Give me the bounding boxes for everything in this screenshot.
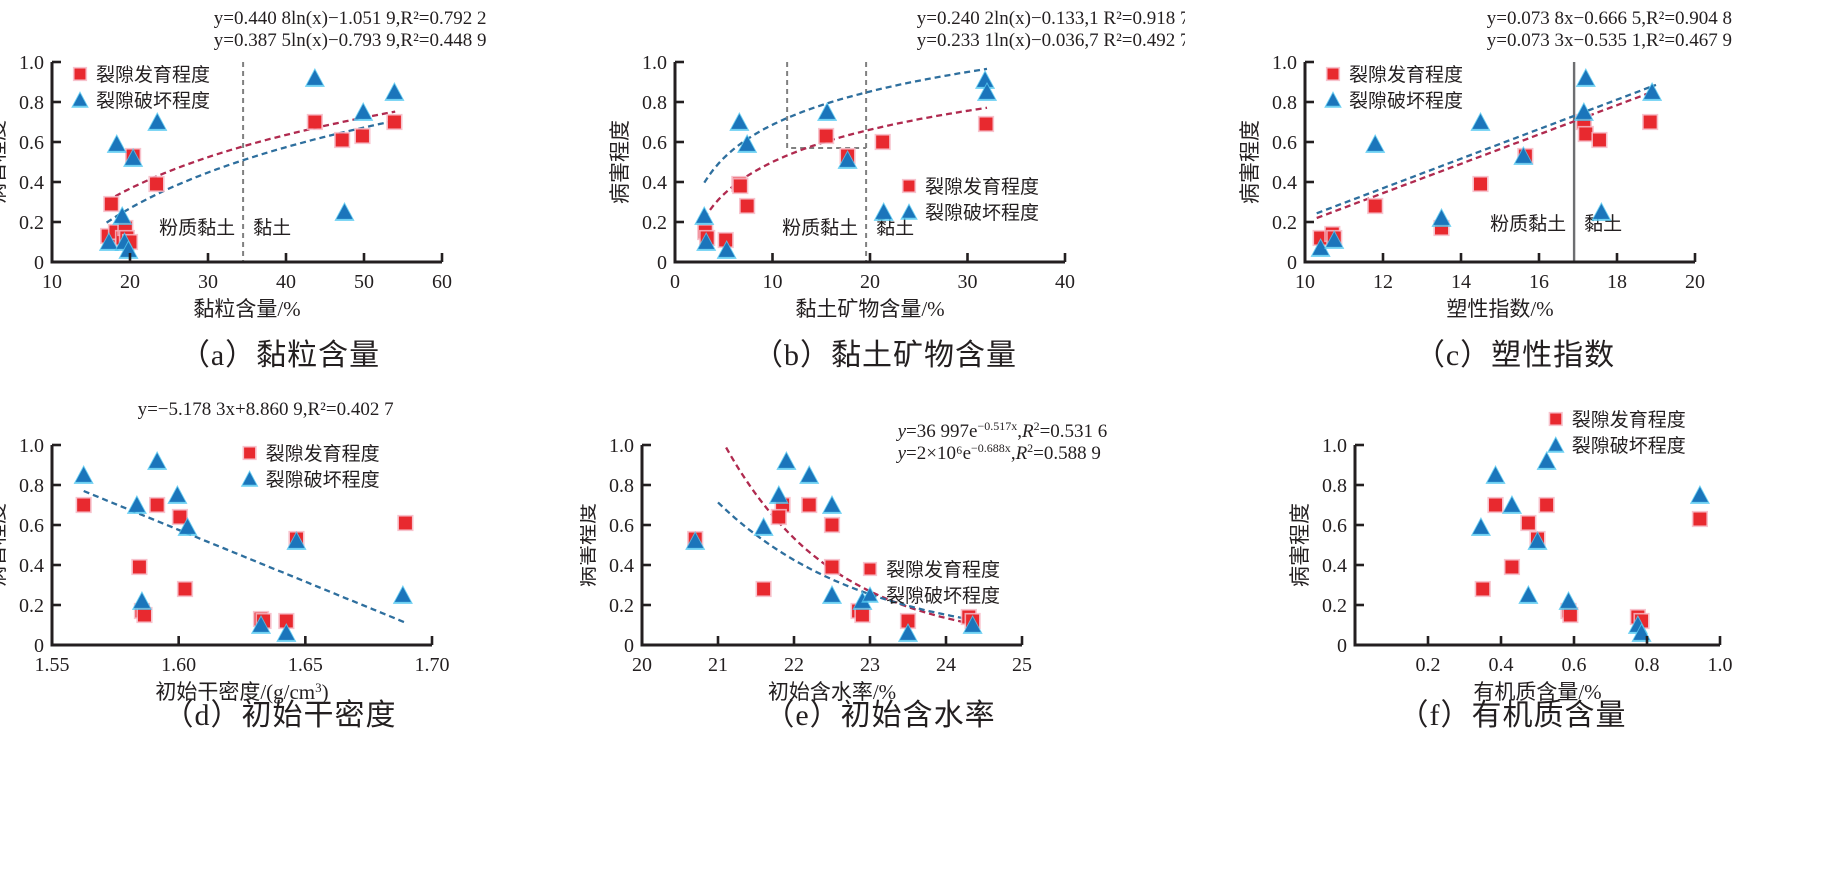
y-tick-label: 0.8	[19, 92, 44, 114]
y-tick-label: 0.2	[19, 212, 44, 234]
data-point-triangle	[731, 114, 747, 129]
data-point-square	[826, 519, 839, 532]
x-tick-label: 30	[198, 271, 218, 293]
data-point-square	[1522, 517, 1535, 530]
data-point-triangle	[771, 487, 787, 502]
legend-label-2: 裂隙破坏程度	[925, 202, 1039, 224]
data-point-square	[826, 561, 839, 574]
x-tick-label: 20	[1685, 271, 1705, 293]
x-tick-label: 10	[763, 271, 783, 293]
data-point-square	[179, 583, 192, 596]
x-tick-label: 14	[1451, 271, 1471, 293]
zone-label-clay: 黏土	[253, 217, 291, 239]
data-point-square	[308, 116, 321, 129]
equation-block-e: y=36 997e−0.517x,R2=0.531 6y=2×10⁶e−0.68…	[896, 419, 1108, 464]
legend-swatch-triangle	[243, 472, 257, 485]
panel-b: y=0.240 2ln(x)−0.133,1 R²=0.918 7y=0.233…	[585, 0, 1185, 330]
y-tick-label: 0.2	[1322, 595, 1347, 617]
data-point-triangle	[778, 453, 794, 468]
legend-swatch-square	[904, 181, 915, 192]
equation-text: y=−5.178 3x+8.860 9,R²=0.402 7	[138, 400, 394, 420]
x-tick-label: 0.8	[1635, 654, 1660, 676]
equation-text: y=0.440 8ln(x)−1.051 9,R²=0.792 2	[214, 8, 487, 29]
x-tick-label: 0	[670, 271, 680, 293]
data-point-square	[741, 200, 754, 213]
y-tick-label: 1.0	[19, 435, 44, 457]
chart-a: y=0.440 8ln(x)−1.051 9,R²=0.792 2y=0.387…	[0, 0, 560, 330]
x-tick-label: 23	[860, 654, 880, 676]
equation-text: y=0.233 1ln(x)−0.036,7 R²=0.492 7	[917, 30, 1185, 51]
y-tick-label: 0.8	[19, 475, 44, 497]
data-point-square	[1579, 128, 1592, 141]
y-tick-label: 0.4	[19, 172, 44, 194]
y-tick-label: 0.6	[642, 132, 667, 154]
y-tick-label: 0.8	[1272, 92, 1297, 114]
equation-block-a: y=0.440 8ln(x)−1.051 9,R²=0.792 2y=0.387…	[214, 8, 487, 51]
data-point-square	[150, 178, 163, 191]
legend-label-1: 裂隙发育程度	[925, 176, 1039, 198]
x-tick-label: 22	[784, 654, 804, 676]
data-point-triangle	[149, 114, 165, 129]
x-tick-label: 20	[632, 654, 652, 676]
panel-caption-d: （d）初始干密度	[0, 690, 560, 734]
data-point-triangle	[355, 104, 371, 119]
data-point-triangle	[824, 497, 840, 512]
y-tick-label: 0	[1337, 635, 1347, 657]
legend-label-1: 裂隙发育程度	[96, 64, 210, 86]
x-tick-label: 40	[1055, 271, 1075, 293]
y-tick-label: 1.0	[19, 52, 44, 74]
data-point-triangle	[1472, 114, 1488, 129]
data-point-square	[336, 134, 349, 147]
data-point-square	[1593, 134, 1606, 147]
data-point-square	[772, 511, 785, 524]
y-tick-label: 1.0	[609, 435, 634, 457]
y-tick-label: 0.6	[1322, 515, 1347, 537]
data-point-triangle	[824, 587, 840, 602]
y-tick-label: 0.8	[642, 92, 667, 114]
data-point-triangle	[1504, 497, 1520, 512]
zone-label-silty-clay: 粉质黏土	[1490, 213, 1566, 235]
y-tick-label: 0.4	[642, 172, 667, 194]
data-point-triangle	[1487, 467, 1503, 482]
legend-label-1: 裂隙发育程度	[266, 443, 380, 465]
y-axis-title: 病害程度	[580, 503, 599, 587]
x-tick-label: 30	[958, 271, 978, 293]
data-point-triangle	[1433, 210, 1449, 225]
y-tick-label: 0.6	[1272, 132, 1297, 154]
y-tick-label: 0	[657, 252, 667, 274]
data-point-triangle	[1578, 70, 1594, 85]
equation-text: y=0.240 2ln(x)−0.133,1 R²=0.918 7	[917, 8, 1185, 29]
x-tick-label: 0.6	[1562, 654, 1587, 676]
panel-caption-e: （e）初始含水率	[580, 690, 1180, 734]
x-tick-label: 12	[1373, 271, 1393, 293]
y-axis-title: 病害程度	[1238, 120, 1262, 204]
legend-swatch-triangle	[73, 93, 87, 106]
equation-block-b: y=0.240 2ln(x)−0.133,1 R²=0.918 7y=0.233…	[917, 8, 1185, 51]
data-point-triangle	[1560, 593, 1576, 608]
y-tick-label: 0.6	[19, 132, 44, 154]
chart-e: y=36 997e−0.517x,R2=0.531 6y=2×10⁶e−0.68…	[580, 400, 1180, 730]
x-tick-label: 20	[120, 271, 140, 293]
zone-label-silty-clay: 粉质黏土	[159, 217, 235, 239]
data-point-square	[1476, 583, 1489, 596]
equation-text: y=0.387 5ln(x)−0.793 9,R²=0.448 9	[214, 30, 487, 51]
data-point-square	[399, 517, 412, 530]
data-point-square	[820, 130, 833, 143]
data-point-triangle	[696, 208, 712, 223]
y-tick-label: 0.8	[1322, 475, 1347, 497]
chart-c: y=0.073 8x−0.666 5,R²=0.904 8y=0.073 3x−…	[1215, 0, 1815, 330]
data-point-square	[1489, 499, 1502, 512]
x-axis-title: 塑性指数/%	[1446, 297, 1553, 321]
series-1-points	[1475, 497, 1708, 629]
x-tick-label: 50	[354, 271, 374, 293]
x-tick-label: 21	[708, 654, 728, 676]
data-point-triangle	[169, 487, 185, 502]
x-tick-label: 25	[1012, 654, 1032, 676]
legend-d: 裂隙发育程度裂隙破坏程度	[241, 443, 380, 491]
y-tick-label: 0.4	[19, 555, 44, 577]
x-axis-title: 黏粒含量/%	[193, 297, 300, 321]
y-axis-title: 病害程度	[1288, 503, 1312, 587]
legend-swatch-square	[1328, 69, 1339, 80]
trend-series2	[107, 121, 396, 223]
legend-swatch-triangle	[902, 205, 916, 218]
chart-f: 00.20.40.60.81.00.20.40.60.81.0有机质含量/%病害…	[1200, 400, 1825, 730]
data-point-triangle	[76, 467, 92, 482]
legend-label-1: 裂隙发育程度	[1572, 409, 1686, 431]
data-point-triangle	[336, 204, 352, 219]
y-tick-label: 0.6	[19, 515, 44, 537]
y-tick-label: 1.0	[1272, 52, 1297, 74]
x-tick-label: 60	[432, 271, 452, 293]
y-tick-label: 0.2	[19, 595, 44, 617]
data-point-triangle	[1576, 104, 1592, 119]
data-point-square	[1540, 499, 1553, 512]
data-point-square	[980, 118, 993, 131]
data-point-triangle	[1539, 453, 1555, 468]
data-point-square	[1564, 609, 1577, 622]
data-point-triangle	[307, 70, 323, 85]
data-point-square	[1693, 513, 1706, 526]
x-tick-label: 1.0	[1708, 654, 1733, 676]
legend-b: 裂隙发育程度裂隙破坏程度	[900, 176, 1039, 224]
data-point-square	[105, 198, 118, 211]
data-point-triangle	[1473, 519, 1489, 534]
data-point-triangle	[1367, 136, 1383, 151]
data-point-triangle	[876, 204, 892, 219]
data-point-triangle	[1520, 587, 1536, 602]
legend-label-2: 裂隙破坏程度	[96, 90, 210, 112]
equation-block-d: y=−5.178 3x+8.860 9,R²=0.402 7	[138, 400, 394, 420]
data-point-triangle	[977, 72, 993, 87]
chart-b: y=0.240 2ln(x)−0.133,1 R²=0.918 7y=0.233…	[585, 0, 1185, 330]
legend-f: 裂隙发育程度裂隙破坏程度	[1547, 409, 1686, 457]
data-point-square	[734, 180, 747, 193]
panel-c: y=0.073 8x−0.666 5,R²=0.904 8y=0.073 3x−…	[1215, 0, 1815, 330]
panel-f: 00.20.40.60.81.00.20.40.60.81.0有机质含量/%病害…	[1200, 400, 1825, 730]
panel-e: y=36 997e−0.517x,R2=0.531 6y=2×10⁶e−0.68…	[580, 400, 1180, 730]
data-point-triangle	[1593, 204, 1609, 219]
panel-caption-a: （a）黏粒含量	[0, 330, 560, 374]
series-2-points	[1471, 451, 1710, 642]
y-tick-label: 0.2	[642, 212, 667, 234]
legend-label-2: 裂隙破坏程度	[886, 585, 1000, 607]
data-point-square	[1644, 116, 1657, 129]
data-point-square	[151, 499, 164, 512]
legend-swatch-square	[244, 448, 255, 459]
data-point-triangle	[801, 467, 817, 482]
x-tick-label: 10	[1295, 271, 1315, 293]
data-point-triangle	[1644, 84, 1660, 99]
data-point-triangle	[386, 84, 402, 99]
x-axis-title: 黏土矿物含量/%	[795, 297, 944, 321]
data-point-square	[1474, 178, 1487, 191]
x-tick-label: 10	[42, 271, 62, 293]
zone-label-silty-clay: 粉质黏土	[782, 217, 858, 239]
data-point-square	[856, 609, 869, 622]
y-tick-label: 0.2	[1272, 212, 1297, 234]
data-point-square	[133, 561, 146, 574]
data-point-triangle	[395, 587, 411, 602]
equation-block-c: y=0.073 8x−0.666 5,R²=0.904 8y=0.073 3x−…	[1487, 8, 1732, 51]
legend-label-2: 裂隙破坏程度	[1349, 90, 1463, 112]
x-tick-label: 1.65	[288, 654, 323, 676]
data-point-square	[173, 511, 186, 524]
figure-root: y=0.440 8ln(x)−1.051 9,R²=0.792 2y=0.387…	[0, 0, 1825, 889]
data-point-square	[138, 609, 151, 622]
y-axis-title: 病害程度	[608, 120, 632, 204]
data-point-square	[1505, 561, 1518, 574]
legend-a: 裂隙发育程度裂隙破坏程度	[71, 64, 210, 112]
legend-label-1: 裂隙发育程度	[1349, 64, 1463, 86]
x-tick-label: 1.60	[161, 654, 196, 676]
data-point-triangle	[129, 497, 145, 512]
y-tick-label: 0.4	[609, 555, 634, 577]
panel-a: y=0.440 8ln(x)−1.051 9,R²=0.792 2y=0.387…	[0, 0, 560, 330]
data-point-square	[1369, 200, 1382, 213]
data-point-square	[77, 499, 90, 512]
x-tick-label: 1.70	[415, 654, 450, 676]
x-tick-label: 16	[1529, 271, 1549, 293]
x-tick-label: 18	[1607, 271, 1627, 293]
data-point-triangle	[1692, 487, 1708, 502]
equation-text: y=36 997e−0.517x,R2=0.531 6	[896, 419, 1108, 442]
equation-text: y=0.073 3x−0.535 1,R²=0.467 9	[1487, 30, 1732, 51]
x-tick-label: 20	[860, 271, 880, 293]
y-tick-label: 0.8	[609, 475, 634, 497]
series-1-points	[76, 497, 414, 629]
y-axis-title: 病害程度	[0, 503, 9, 587]
y-tick-label: 1.0	[1322, 435, 1347, 457]
x-tick-label: 0.4	[1489, 654, 1514, 676]
equation-text: y=0.073 8x−0.666 5,R²=0.904 8	[1487, 8, 1732, 29]
y-tick-label: 1.0	[642, 52, 667, 74]
data-point-square	[876, 136, 889, 149]
legend-swatch-square	[1550, 414, 1561, 425]
data-point-triangle	[756, 519, 772, 534]
data-point-square	[356, 130, 369, 143]
x-tick-label: 24	[936, 654, 956, 676]
data-point-triangle	[149, 453, 165, 468]
data-point-square	[757, 583, 770, 596]
data-point-triangle	[109, 136, 125, 151]
legend-swatch-square	[865, 564, 876, 575]
x-tick-label: 0.2	[1416, 654, 1441, 676]
y-tick-label: 0.4	[1272, 172, 1297, 194]
legend-e: 裂隙发育程度裂隙破坏程度	[861, 559, 1000, 607]
panel-caption-b: （b）黏土矿物含量	[585, 330, 1185, 374]
legend-swatch-triangle	[1326, 93, 1340, 106]
y-axis-title: 病害程度	[0, 120, 9, 204]
panel-caption-c: （c）塑性指数	[1215, 330, 1815, 374]
panel-caption-f: （f）有机质含量	[1200, 690, 1825, 734]
y-tick-label: 0.4	[1322, 555, 1347, 577]
legend-label-1: 裂隙发育程度	[886, 559, 1000, 581]
equation-text: y=2×10⁶e−0.688x,R2=0.588 9	[896, 441, 1101, 464]
legend-label-2: 裂隙破坏程度	[266, 469, 380, 491]
data-point-triangle	[134, 593, 150, 608]
y-tick-label: 0.2	[609, 595, 634, 617]
legend-c: 裂隙发育程度裂隙破坏程度	[1324, 64, 1463, 112]
data-point-square	[803, 499, 816, 512]
y-tick-label: 0.6	[609, 515, 634, 537]
data-point-square	[388, 116, 401, 129]
x-tick-label: 40	[276, 271, 296, 293]
legend-label-2: 裂隙破坏程度	[1572, 435, 1686, 457]
legend-swatch-triangle	[1549, 438, 1563, 451]
x-tick-label: 1.55	[35, 654, 70, 676]
chart-d: y=−5.178 3x+8.860 9,R²=0.402 700.20.40.6…	[0, 400, 560, 730]
panel-d: y=−5.178 3x+8.860 9,R²=0.402 700.20.40.6…	[0, 400, 560, 730]
series-2-points	[685, 451, 983, 642]
legend-swatch-square	[75, 69, 86, 80]
